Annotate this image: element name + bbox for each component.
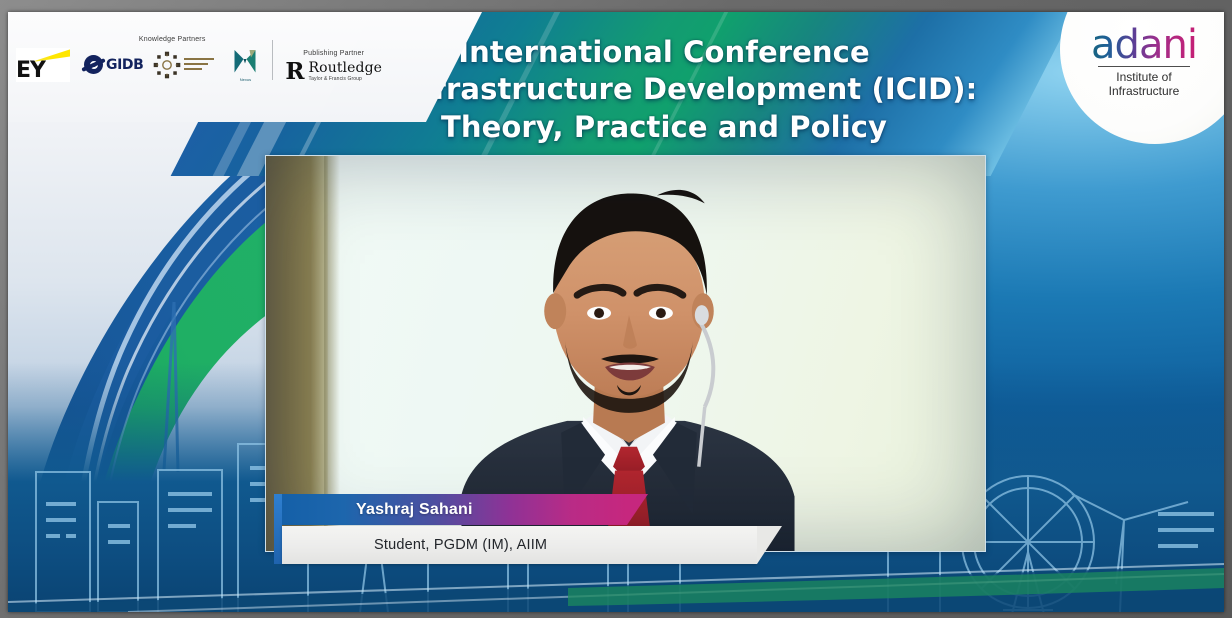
gidb-logo: GIDB [84,55,143,74]
ey-wordmark: EY [16,60,45,82]
gidb-mark-icon [84,55,103,74]
presenter-figure [266,156,985,551]
cept-logo [153,51,220,79]
screen-capture: International Conference on Infrastructu… [0,0,1232,618]
gidb-wordmark: GIDB [106,57,143,73]
speaker-role: Student, PGDM (IM), AIIM [282,537,547,553]
nexus-logo: Nexus [230,47,260,82]
ey-logo: EY [16,48,70,82]
cept-wordmark [184,55,220,75]
knowledge-partners-group: Knowledge Partners GIDB [84,36,260,82]
nexus-caption: Nexus [240,78,251,82]
lower-third-nameplate: Yashraj Sahani Student, PGDM (IM), AIIM [274,494,757,564]
speaker-name-bar: Yashraj Sahani [282,494,627,525]
publishing-partner-label: Publishing Partner [303,50,364,57]
speaker-name: Yashraj Sahani [282,501,473,519]
adani-divider [1098,66,1190,68]
cept-circular-dots-icon [153,51,181,79]
presentation-slide: International Conference on Infrastructu… [8,12,1224,612]
partner-logos: . EY Knowledge Partners GIDB [16,36,382,82]
adani-subtitle: Institute of Infrastructure [1109,70,1180,98]
adani-subtitle-line-1: Institute of [1109,70,1180,84]
adani-subtitle-line-2: Infrastructure [1109,84,1180,98]
routledge-tagline: Taylor & Francis Group [309,77,382,82]
knowledge-partner-logos: GIDB [84,47,260,82]
nexus-butterfly-icon [230,47,260,77]
presenter-video-tile[interactable] [265,155,986,552]
routledge-wordmark: Routledge [309,61,382,75]
lower-third-accent-bar [274,494,282,564]
ey-logo-group: . EY [16,37,70,82]
speaker-role-bar: Student, PGDM (IM), AIIM [282,526,757,564]
routledge-r-icon: R [285,62,304,82]
knowledge-partners-label: Knowledge Partners [139,36,206,43]
partners-divider [272,40,273,80]
publishing-partner-group: Publishing Partner R Routledge Taylor & … [285,50,382,82]
adani-wordmark: adani [1091,27,1197,63]
routledge-logo: R Routledge Taylor & Francis Group [285,61,382,82]
title-line-3: Theory, Practice and Policy [344,109,984,146]
